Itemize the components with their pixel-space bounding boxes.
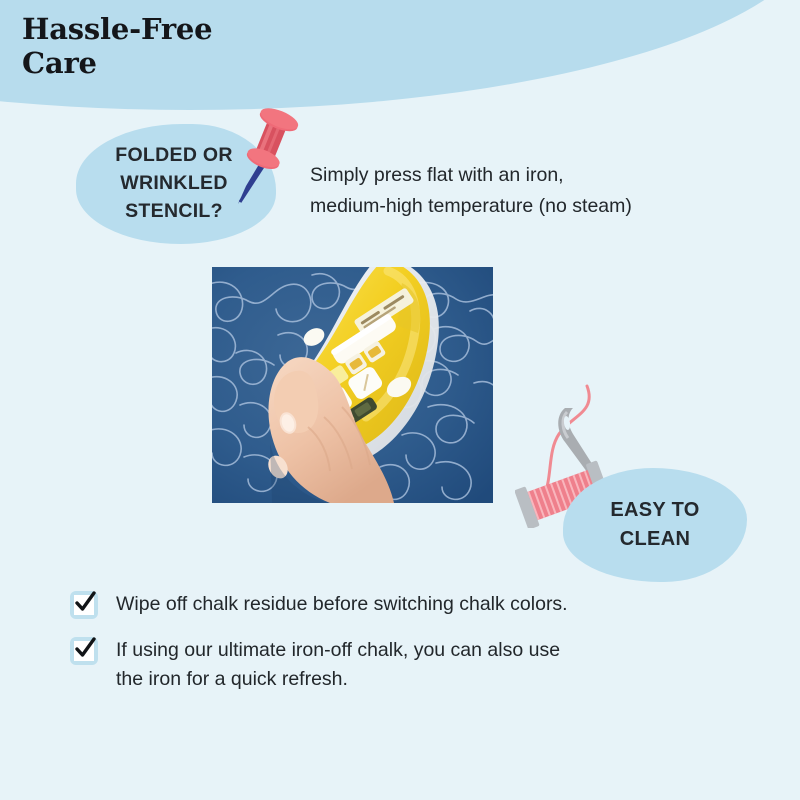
badge-label-folded: FOLDED OR WRINKLED STENCIL? — [115, 142, 233, 225]
check-mark-icon — [72, 590, 98, 616]
checklist-item-text: If using our ultimate iron-off chalk, yo… — [116, 636, 560, 695]
page-title: Hassle-Free Care — [22, 12, 442, 80]
poster-canvas: Hassle-Free Care FOLDED OR WRINKLED STEN… — [0, 0, 800, 800]
iron-on-fabric-photo — [212, 267, 493, 503]
checkbox-checked-icon[interactable] — [70, 637, 98, 665]
checklist-item: Wipe off chalk residue before switching … — [70, 590, 710, 620]
pushpin-icon — [222, 104, 308, 208]
checkbox-checked-icon[interactable] — [70, 591, 98, 619]
check-mark-icon — [72, 636, 98, 662]
badge-label-easy: EASY TO CLEAN — [610, 496, 699, 554]
checklist-item-text: Wipe off chalk residue before switching … — [116, 590, 568, 620]
care-checklist: Wipe off chalk residue before switching … — [70, 590, 710, 711]
intro-paragraph: Simply press flat with an iron, medium-h… — [310, 160, 730, 222]
checklist-item: If using our ultimate iron-off chalk, yo… — [70, 636, 710, 695]
badge-easy-to-clean: EASY TO CLEAN — [563, 468, 747, 582]
